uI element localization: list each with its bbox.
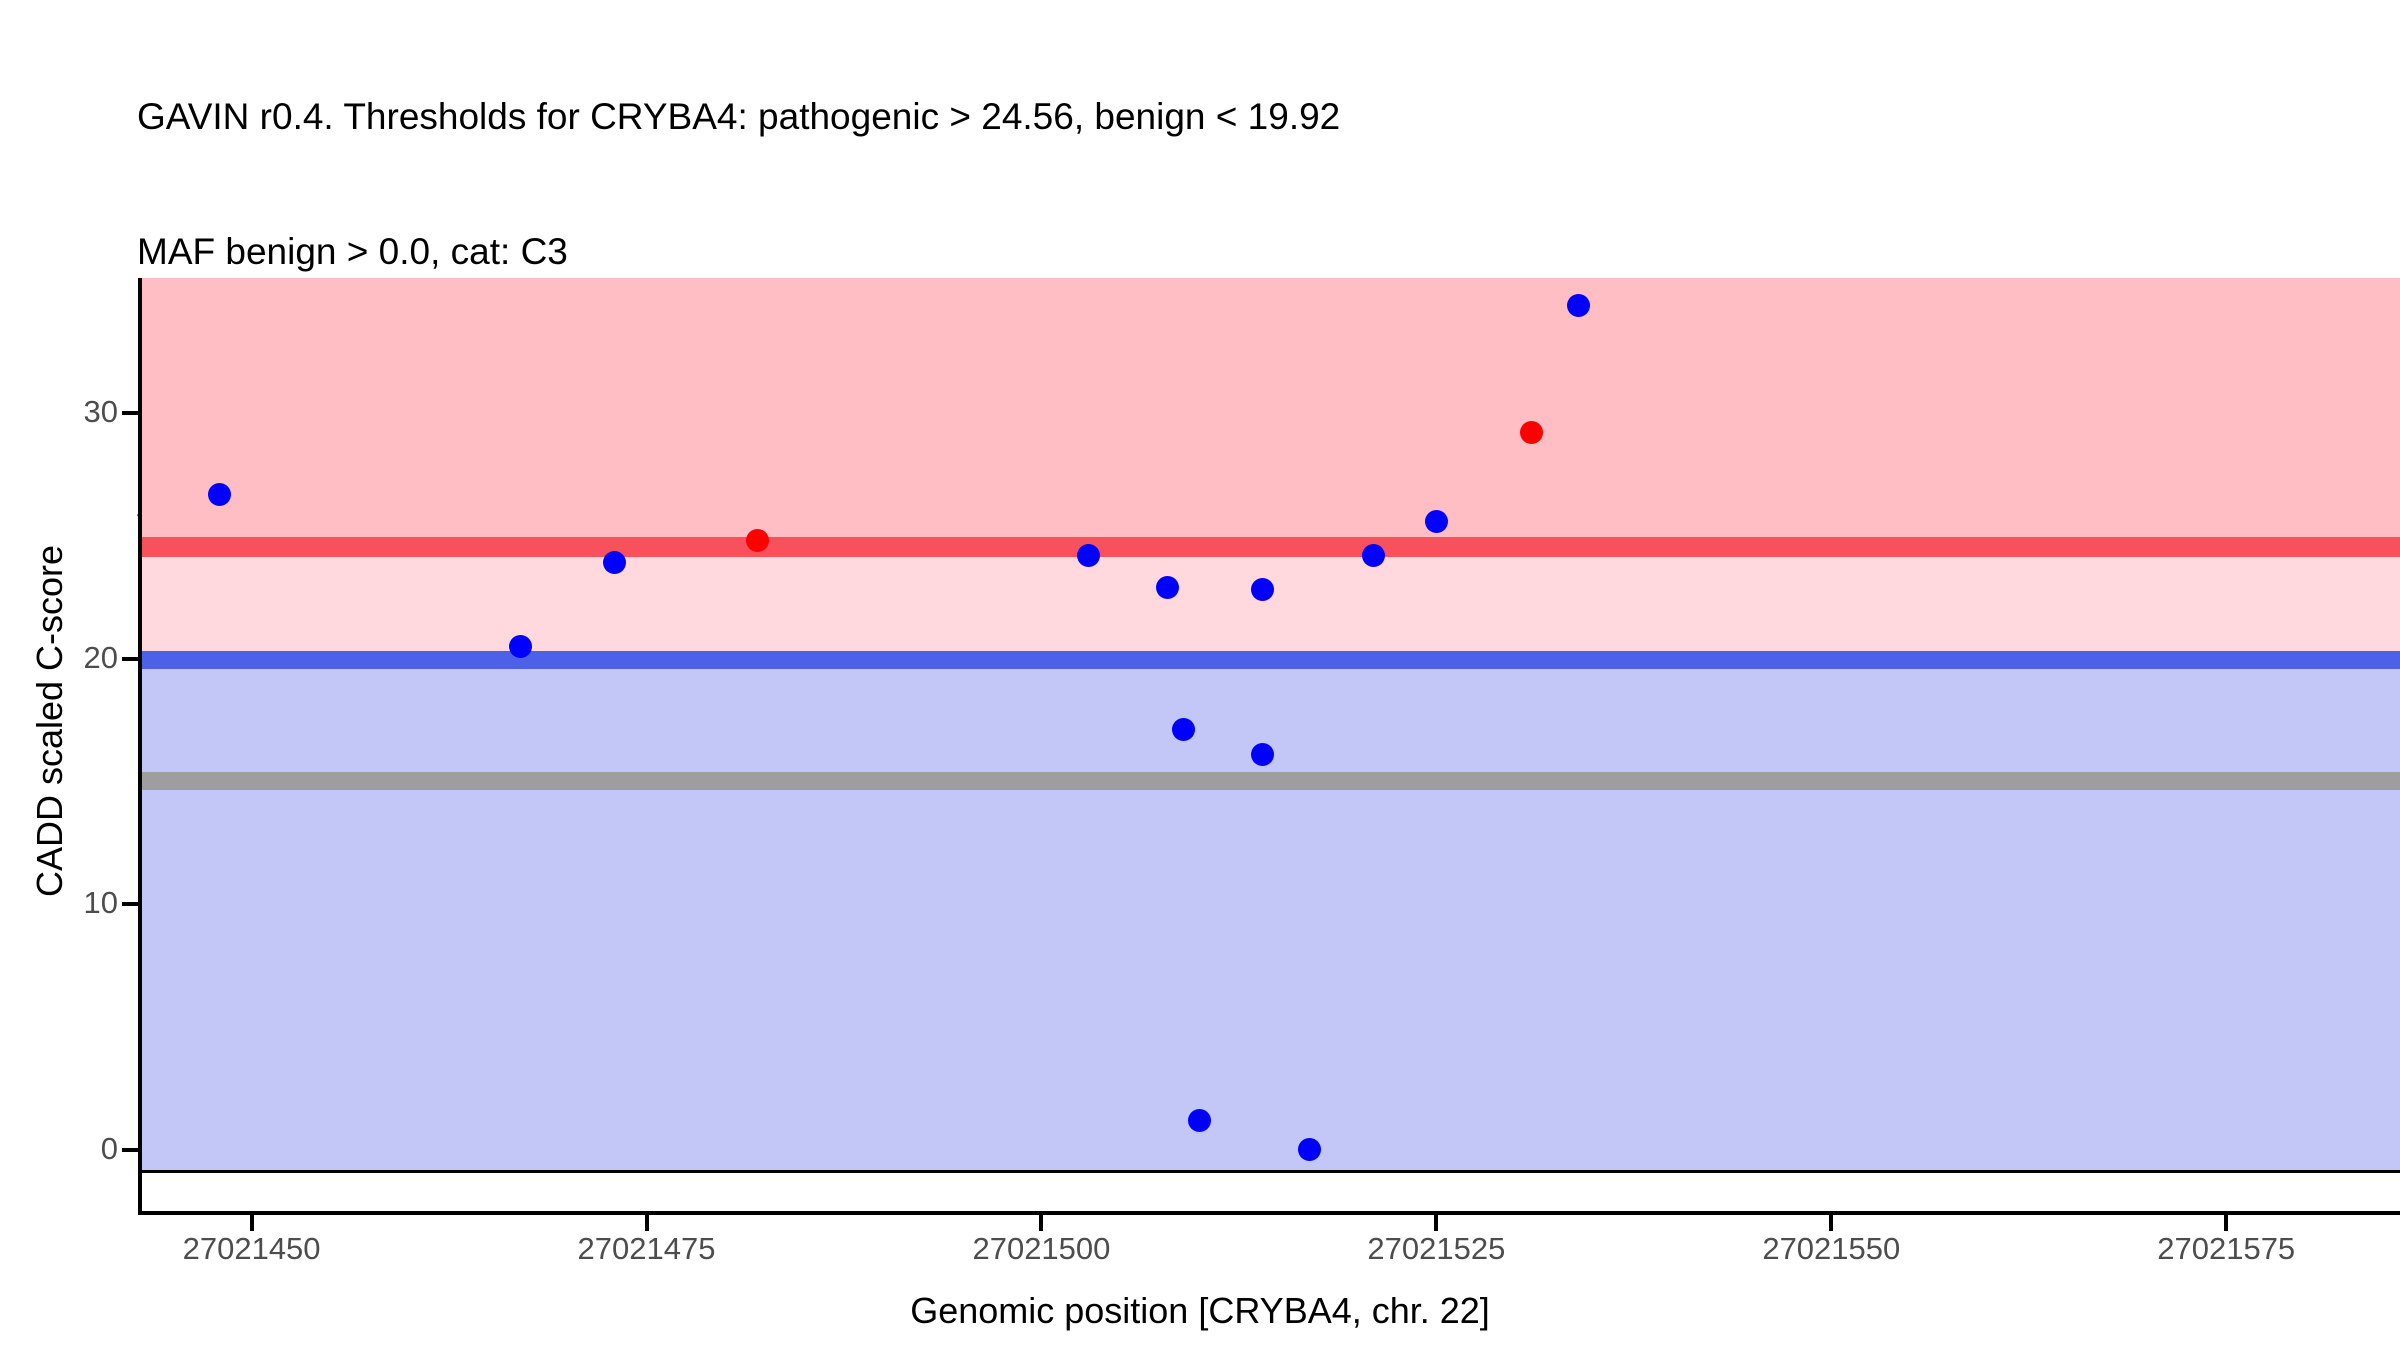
y-tick-label: 10 bbox=[84, 885, 118, 921]
chart-root: GAVIN r0.4. Thresholds for CRYBA4: patho… bbox=[0, 0, 2400, 1350]
x-tick-mark bbox=[250, 1215, 254, 1231]
x-tick-mark bbox=[2224, 1215, 2228, 1231]
y-tick-label: 20 bbox=[84, 640, 118, 676]
x-tick-mark bbox=[645, 1215, 649, 1231]
x-tick-label: 27021575 bbox=[2157, 1231, 2295, 1267]
data-point-gnomad bbox=[208, 483, 231, 506]
benign-threshold-line bbox=[141, 651, 2400, 670]
y-tick-label: 30 bbox=[84, 394, 118, 430]
y-tick-label: 0 bbox=[101, 1131, 118, 1167]
x-tick-mark bbox=[1039, 1215, 1043, 1231]
panel-baseline bbox=[141, 1170, 2400, 1173]
data-point-gnomad bbox=[1425, 510, 1448, 533]
y-axis-label: CADD scaled C-score bbox=[29, 341, 71, 1101]
y-axis-line bbox=[138, 278, 142, 1215]
data-point-pathogenic bbox=[1520, 421, 1543, 444]
vous-band bbox=[141, 557, 2400, 661]
x-tick-label: 27021525 bbox=[1367, 1231, 1505, 1267]
x-tick-mark bbox=[1434, 1215, 1438, 1231]
x-axis-line bbox=[138, 1211, 2400, 1215]
pathogenic-threshold-line bbox=[141, 537, 2400, 557]
title-line-1: GAVIN r0.4. Thresholds for CRYBA4: patho… bbox=[137, 94, 2337, 139]
data-point-gnomad bbox=[1362, 544, 1385, 567]
y-tick-mark bbox=[122, 902, 138, 906]
x-tick-label: 27021550 bbox=[1762, 1231, 1900, 1267]
title-line-2: MAF benign > 0.0, cat: C3 bbox=[137, 229, 2337, 274]
x-axis-label: Genomic position [CRYBA4, chr. 22] bbox=[0, 1290, 2400, 1332]
x-tick-mark bbox=[1829, 1215, 1833, 1231]
data-point-gnomad bbox=[1251, 743, 1274, 766]
plot-panel bbox=[141, 278, 2400, 1172]
y-tick-mark bbox=[122, 411, 138, 415]
benign-band bbox=[141, 669, 2400, 1172]
y-tick-mark bbox=[122, 657, 138, 661]
y-tick-mark bbox=[122, 1148, 138, 1152]
pathogenic-band bbox=[141, 278, 2400, 547]
data-point-gnomad bbox=[1567, 294, 1590, 317]
data-point-gnomad bbox=[509, 635, 532, 658]
data-point-pathogenic bbox=[746, 529, 769, 552]
genome-wide-fallback-line bbox=[141, 772, 2400, 790]
data-point-gnomad bbox=[1188, 1109, 1211, 1132]
x-tick-label: 27021475 bbox=[578, 1231, 716, 1267]
x-tick-label: 27021500 bbox=[972, 1231, 1110, 1267]
x-tick-label: 27021450 bbox=[183, 1231, 321, 1267]
